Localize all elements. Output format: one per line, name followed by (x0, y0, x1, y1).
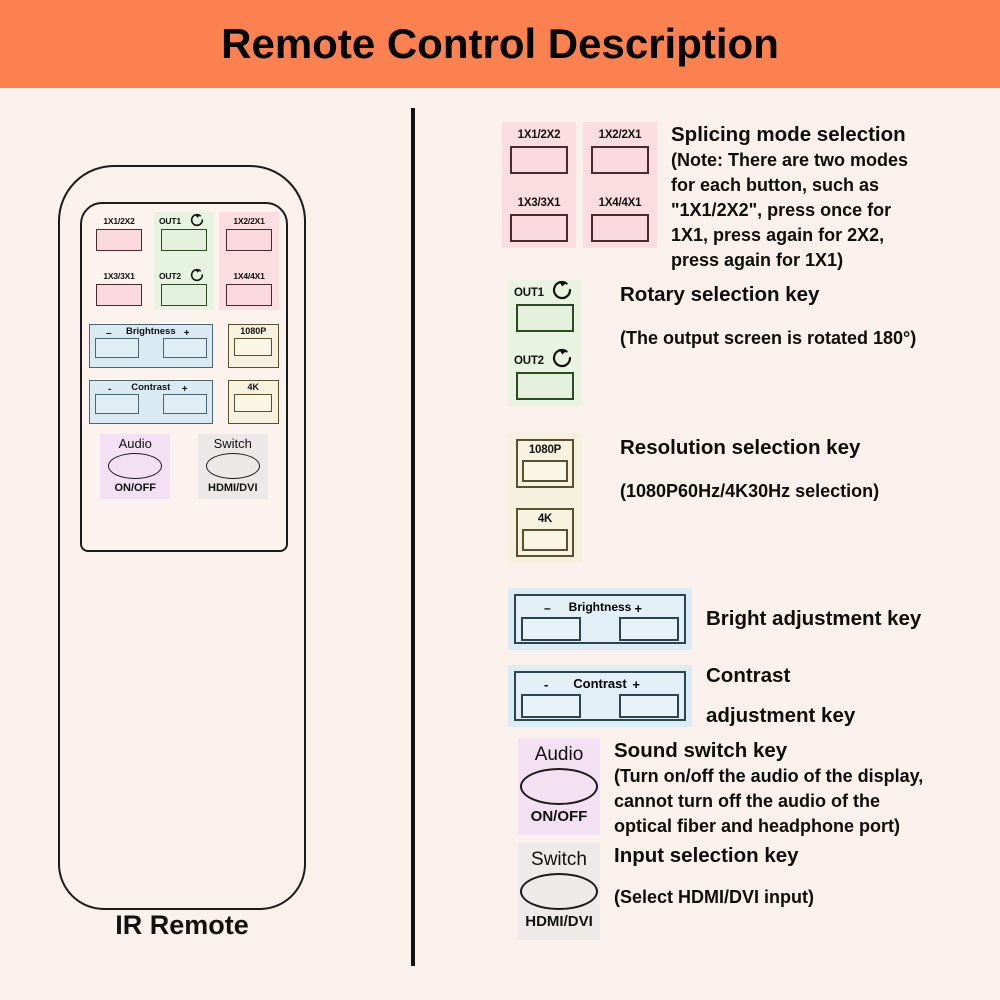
remote-brightness-minus-button[interactable] (95, 338, 139, 358)
legend-art-brightness: – + Brightness (508, 588, 692, 650)
remote-1080p-button[interactable] (234, 338, 272, 356)
remote-4k-button[interactable] (234, 394, 272, 412)
rotate-icon (550, 278, 574, 307)
rotate-icon (550, 346, 574, 375)
legend-key-4k[interactable]: 4K (516, 508, 574, 557)
remote-key-1x2-2x1-button[interactable] (226, 229, 272, 251)
legend-splicing-note-2: "1X1/2X2", press once for (671, 198, 971, 223)
legend-key-1x3-3x1[interactable]: 1X3/3X1 (502, 196, 576, 242)
legend-rotary-note: (The output screen is rotated 180°) (620, 326, 1000, 351)
legend-art-input[interactable]: Switch HDMI/DVI (518, 843, 600, 940)
legend-switch-label: Switch (518, 849, 600, 871)
remote-key-1x4-4x1[interactable]: 1X4/4X1 (220, 271, 278, 306)
remote-illustration: 1X1/2X2 1X3/3X1 OUT1 (20, 110, 400, 970)
legend-key-1x3-3x1-button[interactable] (510, 214, 568, 242)
remote-switch-oval-button[interactable] (206, 453, 260, 479)
legend-audio-note-1: cannot turn off the audio of the (614, 789, 974, 814)
legend-input-title: Input selection key (614, 843, 974, 869)
remote-1080p-label: 1080P (229, 325, 278, 338)
legend-brightness-key-label: Brightness (516, 596, 684, 615)
legend-key-1x4-4x1-button[interactable] (591, 214, 649, 242)
legend-key-out2-button[interactable] (516, 372, 574, 400)
remote-key-1x1-2x2[interactable]: 1X1/2X2 (90, 216, 148, 251)
legend-rotary-title: Rotary selection key (620, 282, 1000, 308)
legend-splicing-note-4: press again for 1X1) (671, 248, 971, 273)
legend-text-input: Input selection key (Select HDMI/DVI inp… (600, 843, 974, 910)
legend-text-brightness: Bright adjustment key (692, 606, 1000, 632)
legend-key-1x2-2x1-button[interactable] (591, 146, 649, 174)
remote-key-1x3-3x1-button[interactable] (96, 284, 142, 306)
remote-contrast-plus-button[interactable] (163, 394, 207, 414)
rotate-icon (189, 212, 205, 233)
remote-key-switch[interactable]: Switch HDMI/DVI (198, 434, 268, 499)
remote-key-brightness[interactable]: – + Brightness (89, 324, 213, 368)
page-title: Remote Control Description (221, 20, 779, 68)
legend-audio-note-2: optical fiber and headphone port) (614, 814, 974, 839)
legend-key-1x1-2x2-button[interactable] (510, 146, 568, 174)
legend-row-resolution: 1080P 4K Resolution selection key (1080P… (508, 433, 1000, 563)
legend-contrast-title-line2: adjustment key (706, 703, 1000, 729)
rotate-icon (189, 267, 205, 288)
legend-splicing-note-1: for each button, such as (671, 173, 971, 198)
remote-audio-label: Audio (100, 436, 170, 452)
legend-splicing-note-3: 1X1, press again for 2X2, (671, 223, 971, 248)
legend-row-contrast: - + Contrast Contrast adjustment key (508, 663, 1000, 729)
legend-row-splicing: 1X1/2X2 1X3/3X1 1X2/2X1 1X4/4X1 (502, 122, 971, 273)
contrast-minus-sign: - (108, 384, 111, 395)
legend-resolution-note: (1080P60Hz/4K30Hz selection) (620, 479, 1000, 504)
legend-key-brightness[interactable]: – + Brightness (514, 594, 686, 644)
legend-switch-oval-button[interactable] (520, 873, 598, 910)
remote-audio-oval-button[interactable] (108, 453, 162, 479)
remote-key-out2[interactable]: OUT2 (155, 271, 213, 306)
remote-splicing-col-right: 1X2/2X1 1X4/4X1 (219, 212, 279, 310)
legend-text-rotary: Rotary selection key (The output screen … (582, 280, 1000, 351)
legend-switch-hdmidvi-label: HDMI/DVI (518, 912, 600, 932)
legend-brightness-plus-sign: + (634, 601, 642, 616)
remote-splicing-col-left: 1X1/2X2 1X3/3X1 (89, 212, 149, 310)
legend-resolution-title: Resolution selection key (620, 435, 1000, 461)
vertical-divider (411, 108, 415, 966)
legend-art-resolution: 1080P 4K (508, 433, 582, 563)
legend-contrast-title-line1: Contrast (706, 663, 1000, 689)
legend-audio-label: Audio (518, 744, 600, 766)
legend-brightness-title: Bright adjustment key (706, 606, 1000, 632)
legend-brightness-plus-button[interactable] (619, 617, 679, 641)
legend-audio-oval-button[interactable] (520, 768, 598, 805)
legend-brightness-minus-button[interactable] (521, 617, 581, 641)
remote-switch-label: Switch (198, 436, 268, 452)
legend-key-1080p-button[interactable] (522, 460, 568, 482)
legend-audio-note-0: (Turn on/off the audio of the display, (614, 764, 974, 789)
legend-row-rotary: OUT1 OUT2 (508, 280, 1000, 406)
legend-text-audio: Sound switch key (Turn on/off the audio … (600, 738, 974, 839)
remote-contrast-row: - + Contrast 4K (89, 380, 279, 424)
remote-key-1x2-2x1[interactable]: 1X2/2X1 (220, 216, 278, 251)
remote-switch-hdmidvi-label: HDMI/DVI (198, 480, 268, 496)
legend-key-1080p[interactable]: 1080P (516, 439, 574, 488)
legend-text-contrast: Contrast adjustment key (692, 663, 1000, 729)
legend-key-1x1-2x2[interactable]: 1X1/2X2 (502, 128, 576, 174)
remote-oval-row: Audio ON/OFF Switch HDMI/DVI (89, 434, 279, 499)
remote-key-1x4-4x1-button[interactable] (226, 284, 272, 306)
legend-input-note: (Select HDMI/DVI input) (614, 885, 974, 910)
legend-audio-onoff-label: ON/OFF (518, 807, 600, 827)
legend-splicing-panel-right: 1X2/2X1 1X4/4X1 (583, 122, 657, 248)
remote-key-out1[interactable]: OUT1 (155, 216, 213, 251)
legend-splicing-note-0: (Note: There are two modes (671, 148, 971, 173)
legend-key-1x4-4x1[interactable]: 1X4/4X1 (583, 196, 657, 242)
remote-4k-label: 4K (229, 381, 278, 394)
legend-key-out1-button[interactable] (516, 304, 574, 332)
legend-key-4k-button[interactable] (522, 529, 568, 551)
remote-key-audio[interactable]: Audio ON/OFF (100, 434, 170, 499)
legend-text-splicing: Splicing mode selection (Note: There are… (657, 122, 971, 273)
brightness-plus-sign: + (184, 328, 190, 339)
legend-art-audio[interactable]: Audio ON/OFF (518, 738, 600, 835)
legend-splicing-title: Splicing mode selection (671, 122, 971, 148)
legend-row-input: Switch HDMI/DVI Input selection key (Sel… (518, 843, 974, 940)
legend-contrast-plus-button[interactable] (619, 694, 679, 718)
legend-art-rotary: OUT1 OUT2 (508, 280, 582, 406)
legend-contrast-key-label: Contrast (516, 673, 684, 692)
page-header: Remote Control Description (0, 0, 1000, 88)
remote-contrast-minus-button[interactable] (95, 394, 139, 414)
remote-key-4k[interactable]: 4K (228, 380, 279, 424)
legend-key-contrast[interactable]: - + Contrast (514, 671, 686, 721)
legend-row-audio: Audio ON/OFF Sound switch key (Turn on/o… (518, 738, 974, 839)
remote-key-1x3-3x1[interactable]: 1X3/3X1 (90, 271, 148, 306)
legend-panel: 1X1/2X2 1X3/3X1 1X2/2X1 1X4/4X1 (430, 108, 990, 968)
keypad-top-rows: 1X1/2X2 1X3/3X1 OUT1 (89, 212, 279, 310)
legend-contrast-plus-sign: + (632, 677, 640, 692)
remote-key-contrast[interactable]: - + Contrast (89, 380, 213, 424)
legend-contrast-minus-sign: - (544, 677, 548, 692)
remote-rotary-col: OUT1 OUT2 (154, 212, 214, 310)
remote-key-1x1-2x2-button[interactable] (96, 229, 142, 251)
legend-brightness-minus-sign: – (544, 601, 551, 615)
brightness-minus-sign: – (106, 328, 112, 339)
legend-audio-title: Sound switch key (614, 738, 974, 764)
legend-key-out1[interactable]: OUT1 (508, 286, 582, 332)
ir-remote-caption: IR Remote (20, 910, 344, 941)
remote-key-1080p[interactable]: 1080P (228, 324, 279, 368)
legend-contrast-minus-button[interactable] (521, 694, 581, 718)
legend-art-splicing: 1X1/2X2 1X3/3X1 1X2/2X1 1X4/4X1 (502, 122, 657, 248)
remote-audio-onoff-label: ON/OFF (100, 480, 170, 496)
legend-key-1x2-2x1[interactable]: 1X2/2X1 (583, 128, 657, 174)
legend-art-contrast: - + Contrast (508, 665, 692, 727)
legend-key-out2[interactable]: OUT2 (508, 354, 582, 400)
contrast-plus-sign: + (182, 384, 188, 395)
remote-brightness-plus-button[interactable] (163, 338, 207, 358)
remote-brightness-row: – + Brightness 1080P (89, 324, 279, 368)
remote-keypad: 1X1/2X2 1X3/3X1 OUT1 (80, 202, 288, 552)
legend-text-resolution: Resolution selection key (1080P60Hz/4K30… (582, 433, 1000, 504)
legend-splicing-panel-left: 1X1/2X2 1X3/3X1 (502, 122, 576, 248)
legend-row-brightness: – + Brightness Bright adjustment key (508, 588, 1000, 650)
